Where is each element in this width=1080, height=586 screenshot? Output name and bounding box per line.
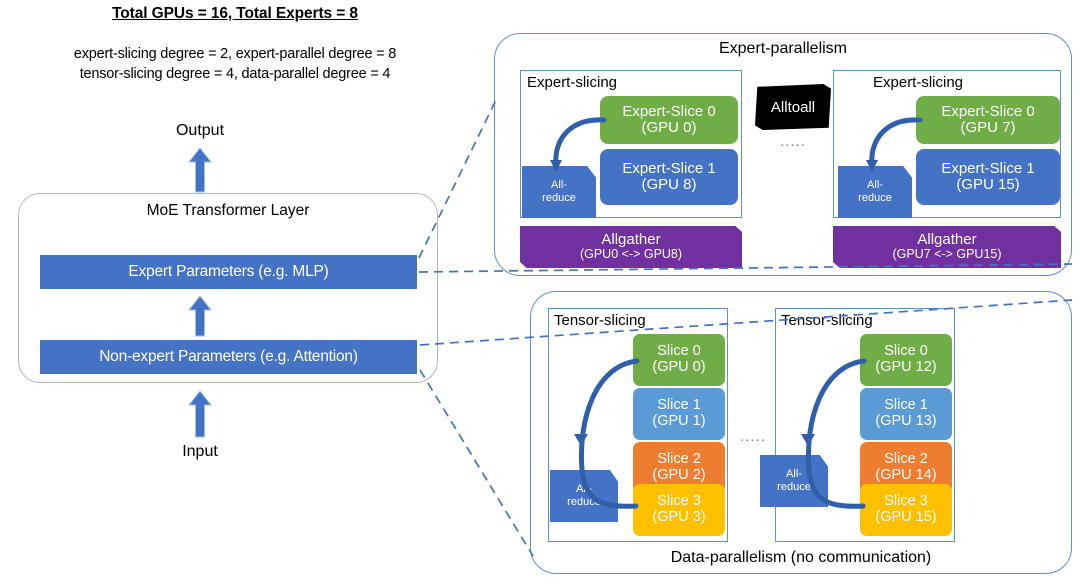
header-subtitle: expert-slicing degree = 2, expert-parall… xyxy=(0,44,470,84)
all-reduce-line-2: reduce xyxy=(542,192,576,205)
all-reduce-badge[interactable]: All- reduce xyxy=(550,470,618,522)
slice-name: Slice 3 xyxy=(884,494,928,510)
slice-gpu: (GPU 1) xyxy=(652,414,705,430)
slice-name: Slice 2 xyxy=(657,452,701,468)
tensor-slice-chip[interactable]: Slice 3 (GPU 15) xyxy=(860,484,952,536)
all-reduce-line-2: reduce xyxy=(858,192,892,205)
data-parallelism-title: Data-parallelism (no communication) xyxy=(530,549,1072,567)
slice-name: Expert-Slice 1 xyxy=(941,161,1034,177)
slice-gpu: (GPU 2) xyxy=(652,468,705,484)
slice-gpu: (GPU 7) xyxy=(960,120,1015,136)
expert-parallelism-ellipsis: ..... xyxy=(755,133,831,150)
slice-name: Slice 0 xyxy=(884,344,928,360)
tensor-slicing-title-2: Tensor-slicing xyxy=(781,312,873,329)
tensor-slice-chip[interactable]: Slice 1 (GPU 13) xyxy=(860,388,952,440)
all-reduce-badge[interactable]: All- reduce xyxy=(522,166,596,218)
all-reduce-line-1: All- xyxy=(786,468,802,481)
expert-slicing-title-2: Expert-slicing xyxy=(873,74,963,91)
output-arrow-icon xyxy=(187,147,213,193)
all-reduce-line-1: All- xyxy=(867,179,883,192)
dashed-connector-tensor-bottom xyxy=(420,370,533,556)
expert-slicing-title-1: Expert-slicing xyxy=(527,74,617,91)
expert-slice-chip[interactable]: Expert-Slice 1 (GPU 8) xyxy=(600,149,738,205)
tensor-slice-chip[interactable]: Slice 3 (GPU 3) xyxy=(633,484,725,536)
slice-name: Slice 0 xyxy=(657,344,701,360)
all-reduce-line-2: reduce xyxy=(777,481,811,494)
allgather-bar[interactable]: Allgather (GPU0 <-> GPU8) xyxy=(520,226,742,268)
allgather-subtitle: (GPU7 <-> GPU15) xyxy=(892,248,1001,262)
slice-name: Slice 3 xyxy=(657,494,701,510)
expert-slice-chip[interactable]: Expert-Slice 0 (GPU 0) xyxy=(600,96,738,144)
slice-gpu: (GPU 0) xyxy=(652,360,705,376)
expert-parameters-bar[interactable]: Expert Parameters (e.g. MLP) xyxy=(40,255,417,289)
input-arrow-icon xyxy=(187,390,213,436)
slice-name: Slice 1 xyxy=(884,398,928,414)
header-subtitle-line-2: tensor-slicing degree = 4, data-parallel… xyxy=(0,64,470,84)
internal-arrow-icon xyxy=(187,295,213,341)
all-reduce-line-2: reduce xyxy=(567,496,601,509)
tensor-slice-chip[interactable]: Slice 0 (GPU 0) xyxy=(633,334,725,386)
input-label: Input xyxy=(0,443,400,461)
slice-name: Slice 2 xyxy=(884,452,928,468)
header-subtitle-line-1: expert-slicing degree = 2, expert-parall… xyxy=(0,44,470,64)
allgather-title: Allgather xyxy=(917,232,976,249)
tensor-slice-chip[interactable]: Slice 1 (GPU 1) xyxy=(633,388,725,440)
non-expert-parameters-bar[interactable]: Non-expert Parameters (e.g. Attention) xyxy=(40,340,417,374)
all-reduce-line-1: All- xyxy=(551,179,567,192)
tensor-slicing-title-1: Tensor-slicing xyxy=(554,312,646,329)
slice-name: Expert-Slice 0 xyxy=(941,104,1034,120)
all-reduce-badge[interactable]: All- reduce xyxy=(838,166,912,218)
all-reduce-line-1: All- xyxy=(576,483,592,496)
slice-gpu: (GPU 15) xyxy=(875,510,936,526)
slice-gpu: (GPU 0) xyxy=(641,120,696,136)
alltoall-badge[interactable]: Alltoall xyxy=(755,84,831,130)
allgather-bar[interactable]: Allgather (GPU7 <-> GPU15) xyxy=(833,226,1061,268)
tensor-slice-chip[interactable]: Slice 0 (GPU 12) xyxy=(860,334,952,386)
data-parallelism-ellipsis: ..... xyxy=(730,428,776,445)
output-label: Output xyxy=(0,122,400,140)
slice-gpu: (GPU 12) xyxy=(875,360,936,376)
expert-slice-chip[interactable]: Expert-Slice 0 (GPU 7) xyxy=(916,96,1060,144)
expert-slice-chip[interactable]: Expert-Slice 1 (GPU 15) xyxy=(916,149,1060,205)
allgather-title: Allgather xyxy=(601,232,660,249)
expert-parallelism-title: Expert-parallelism xyxy=(494,40,1072,58)
slice-name: Expert-Slice 1 xyxy=(622,161,715,177)
page-title: Total GPUs = 16, Total Experts = 8 xyxy=(0,5,470,23)
slice-name: Expert-Slice 0 xyxy=(622,104,715,120)
slice-name: Slice 1 xyxy=(657,398,701,414)
moe-layer-title: MoE Transformer Layer xyxy=(18,202,438,220)
allgather-subtitle: (GPU0 <-> GPU8) xyxy=(580,248,682,262)
slice-gpu: (GPU 13) xyxy=(875,414,936,430)
slice-gpu: (GPU 8) xyxy=(641,177,696,193)
slice-gpu: (GPU 14) xyxy=(875,468,936,484)
slice-gpu: (GPU 15) xyxy=(956,177,1019,193)
slice-gpu: (GPU 3) xyxy=(652,510,705,526)
all-reduce-badge[interactable]: All- reduce xyxy=(760,455,828,507)
